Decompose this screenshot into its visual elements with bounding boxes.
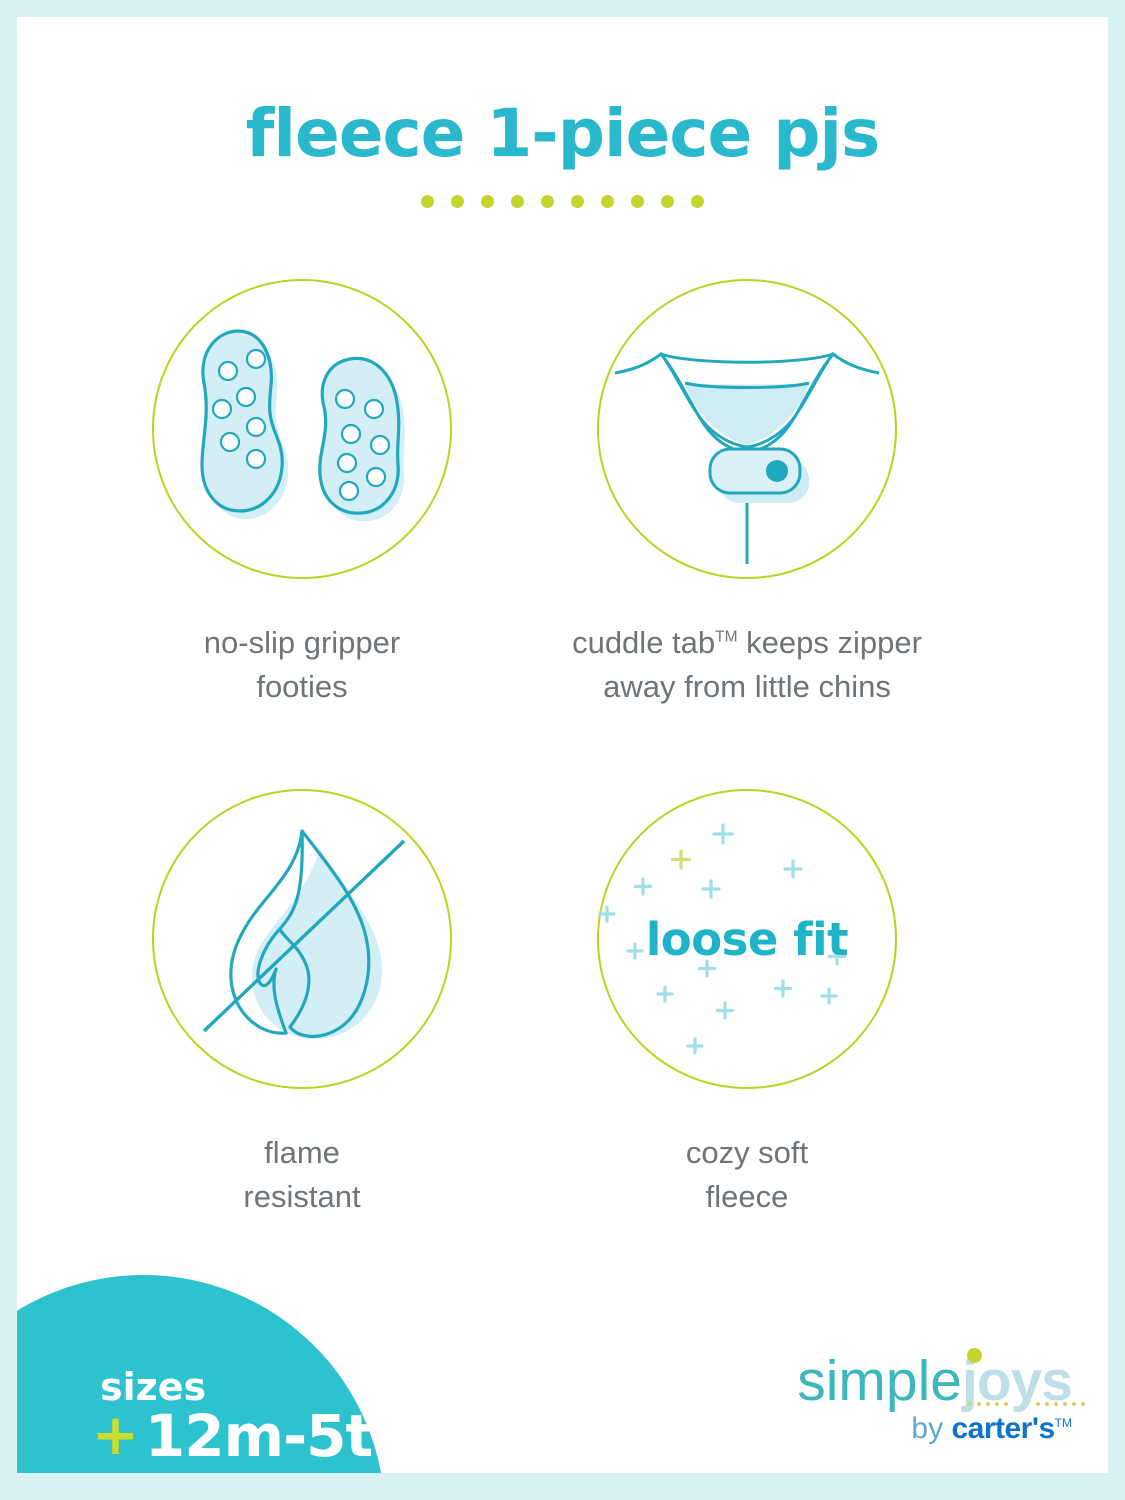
logo-dot bbox=[1004, 1402, 1008, 1406]
caption-line-1: no-slip gripper bbox=[72, 621, 532, 665]
logo-dot bbox=[1081, 1402, 1085, 1406]
caption-line-2: resistant bbox=[72, 1175, 532, 1219]
separator-dot bbox=[541, 195, 554, 208]
logo-subtitle: by carter'sTM bbox=[772, 1414, 1072, 1444]
feature-caption: cozy soft fleece bbox=[517, 1131, 977, 1219]
separator-dot bbox=[451, 195, 464, 208]
separator-dot bbox=[571, 195, 584, 208]
page-title: fleece 1-piece pjs bbox=[17, 95, 1108, 172]
feature-icon-circle bbox=[597, 279, 897, 579]
trademark-symbol: TM bbox=[715, 629, 737, 646]
separator-dot bbox=[631, 195, 644, 208]
logo-dot bbox=[1072, 1402, 1076, 1406]
feature-icon-circle: loose fit bbox=[597, 789, 897, 1089]
logo-word-by: by bbox=[911, 1412, 951, 1445]
logo-dot bbox=[1036, 1402, 1040, 1406]
caption-text-post: keeps zipper bbox=[738, 625, 922, 660]
separator-dot bbox=[481, 195, 494, 208]
caption-line-1: cuddle tabTM keeps zipper bbox=[517, 621, 977, 665]
content-card: fleece 1-piece pjs bbox=[17, 17, 1108, 1473]
logo-trademark-symbol: TM bbox=[1055, 1416, 1072, 1430]
sizes-range-row: + 12m-5t bbox=[92, 1407, 392, 1465]
logo-dot bbox=[977, 1402, 981, 1406]
caption-line-1: cozy soft bbox=[517, 1131, 977, 1175]
logo-dot bbox=[968, 1402, 972, 1406]
no-flame-icon bbox=[152, 789, 452, 1089]
logo-dot bbox=[1063, 1402, 1067, 1406]
logo-underline-dots-left bbox=[968, 1402, 1008, 1406]
sizes-badge: sizes + 12m-5t bbox=[17, 1275, 385, 1473]
feature-gripper-footies: no-slip gripper footies bbox=[72, 279, 532, 709]
loose-fit-badge: loose fit bbox=[597, 789, 897, 1089]
sizes-badge-content: sizes + 12m-5t bbox=[92, 1365, 392, 1465]
feature-icon-circle bbox=[152, 789, 452, 1089]
caption-line-2: fleece bbox=[517, 1175, 977, 1219]
logo-dot bbox=[995, 1402, 999, 1406]
logo-word-simple: simple bbox=[797, 1349, 962, 1413]
logo-green-dot-icon bbox=[967, 1348, 982, 1363]
caption-line-1: flame bbox=[72, 1131, 532, 1175]
plus-icon: + bbox=[92, 1408, 139, 1464]
logo-dot bbox=[986, 1402, 990, 1406]
logo-dot bbox=[1045, 1402, 1049, 1406]
separator-dot bbox=[661, 195, 674, 208]
feature-icon-circle bbox=[152, 279, 452, 579]
feature-caption: cuddle tabTM keeps zipper away from litt… bbox=[517, 621, 977, 709]
sizes-range: 12m-5t bbox=[145, 1407, 372, 1465]
separator-dot bbox=[601, 195, 614, 208]
feature-caption: no-slip gripper footies bbox=[72, 621, 532, 709]
brand-logo: simplejoys by carter'sTM bbox=[772, 1353, 1072, 1444]
logo-underline-dots-right bbox=[1036, 1402, 1085, 1406]
caption-text-pre: cuddle tab bbox=[572, 625, 715, 660]
feature-cozy-soft-fleece: loose fit cozy soft fleece bbox=[517, 789, 977, 1219]
cuddle-tab-collar-icon bbox=[597, 279, 897, 579]
gripper-footies-icon bbox=[152, 279, 452, 579]
caption-line-2: footies bbox=[72, 665, 532, 709]
caption-line-2: away from little chins bbox=[517, 665, 977, 709]
feature-flame-resistant: flame resistant bbox=[72, 789, 532, 1219]
feature-caption: flame resistant bbox=[72, 1131, 532, 1219]
logo-wordmark: simplejoys bbox=[772, 1353, 1072, 1410]
logo-joys-group: joys bbox=[962, 1353, 1072, 1410]
separator-dot bbox=[421, 195, 434, 208]
title-separator-dots bbox=[17, 195, 1108, 208]
feature-cuddle-tab: cuddle tabTM keeps zipper away from litt… bbox=[517, 279, 977, 709]
separator-dot bbox=[691, 195, 704, 208]
infographic-frame: fleece 1-piece pjs bbox=[0, 0, 1125, 1500]
logo-dot bbox=[1054, 1402, 1058, 1406]
separator-dot bbox=[511, 195, 524, 208]
logo-word-carters: carter's bbox=[951, 1412, 1054, 1445]
